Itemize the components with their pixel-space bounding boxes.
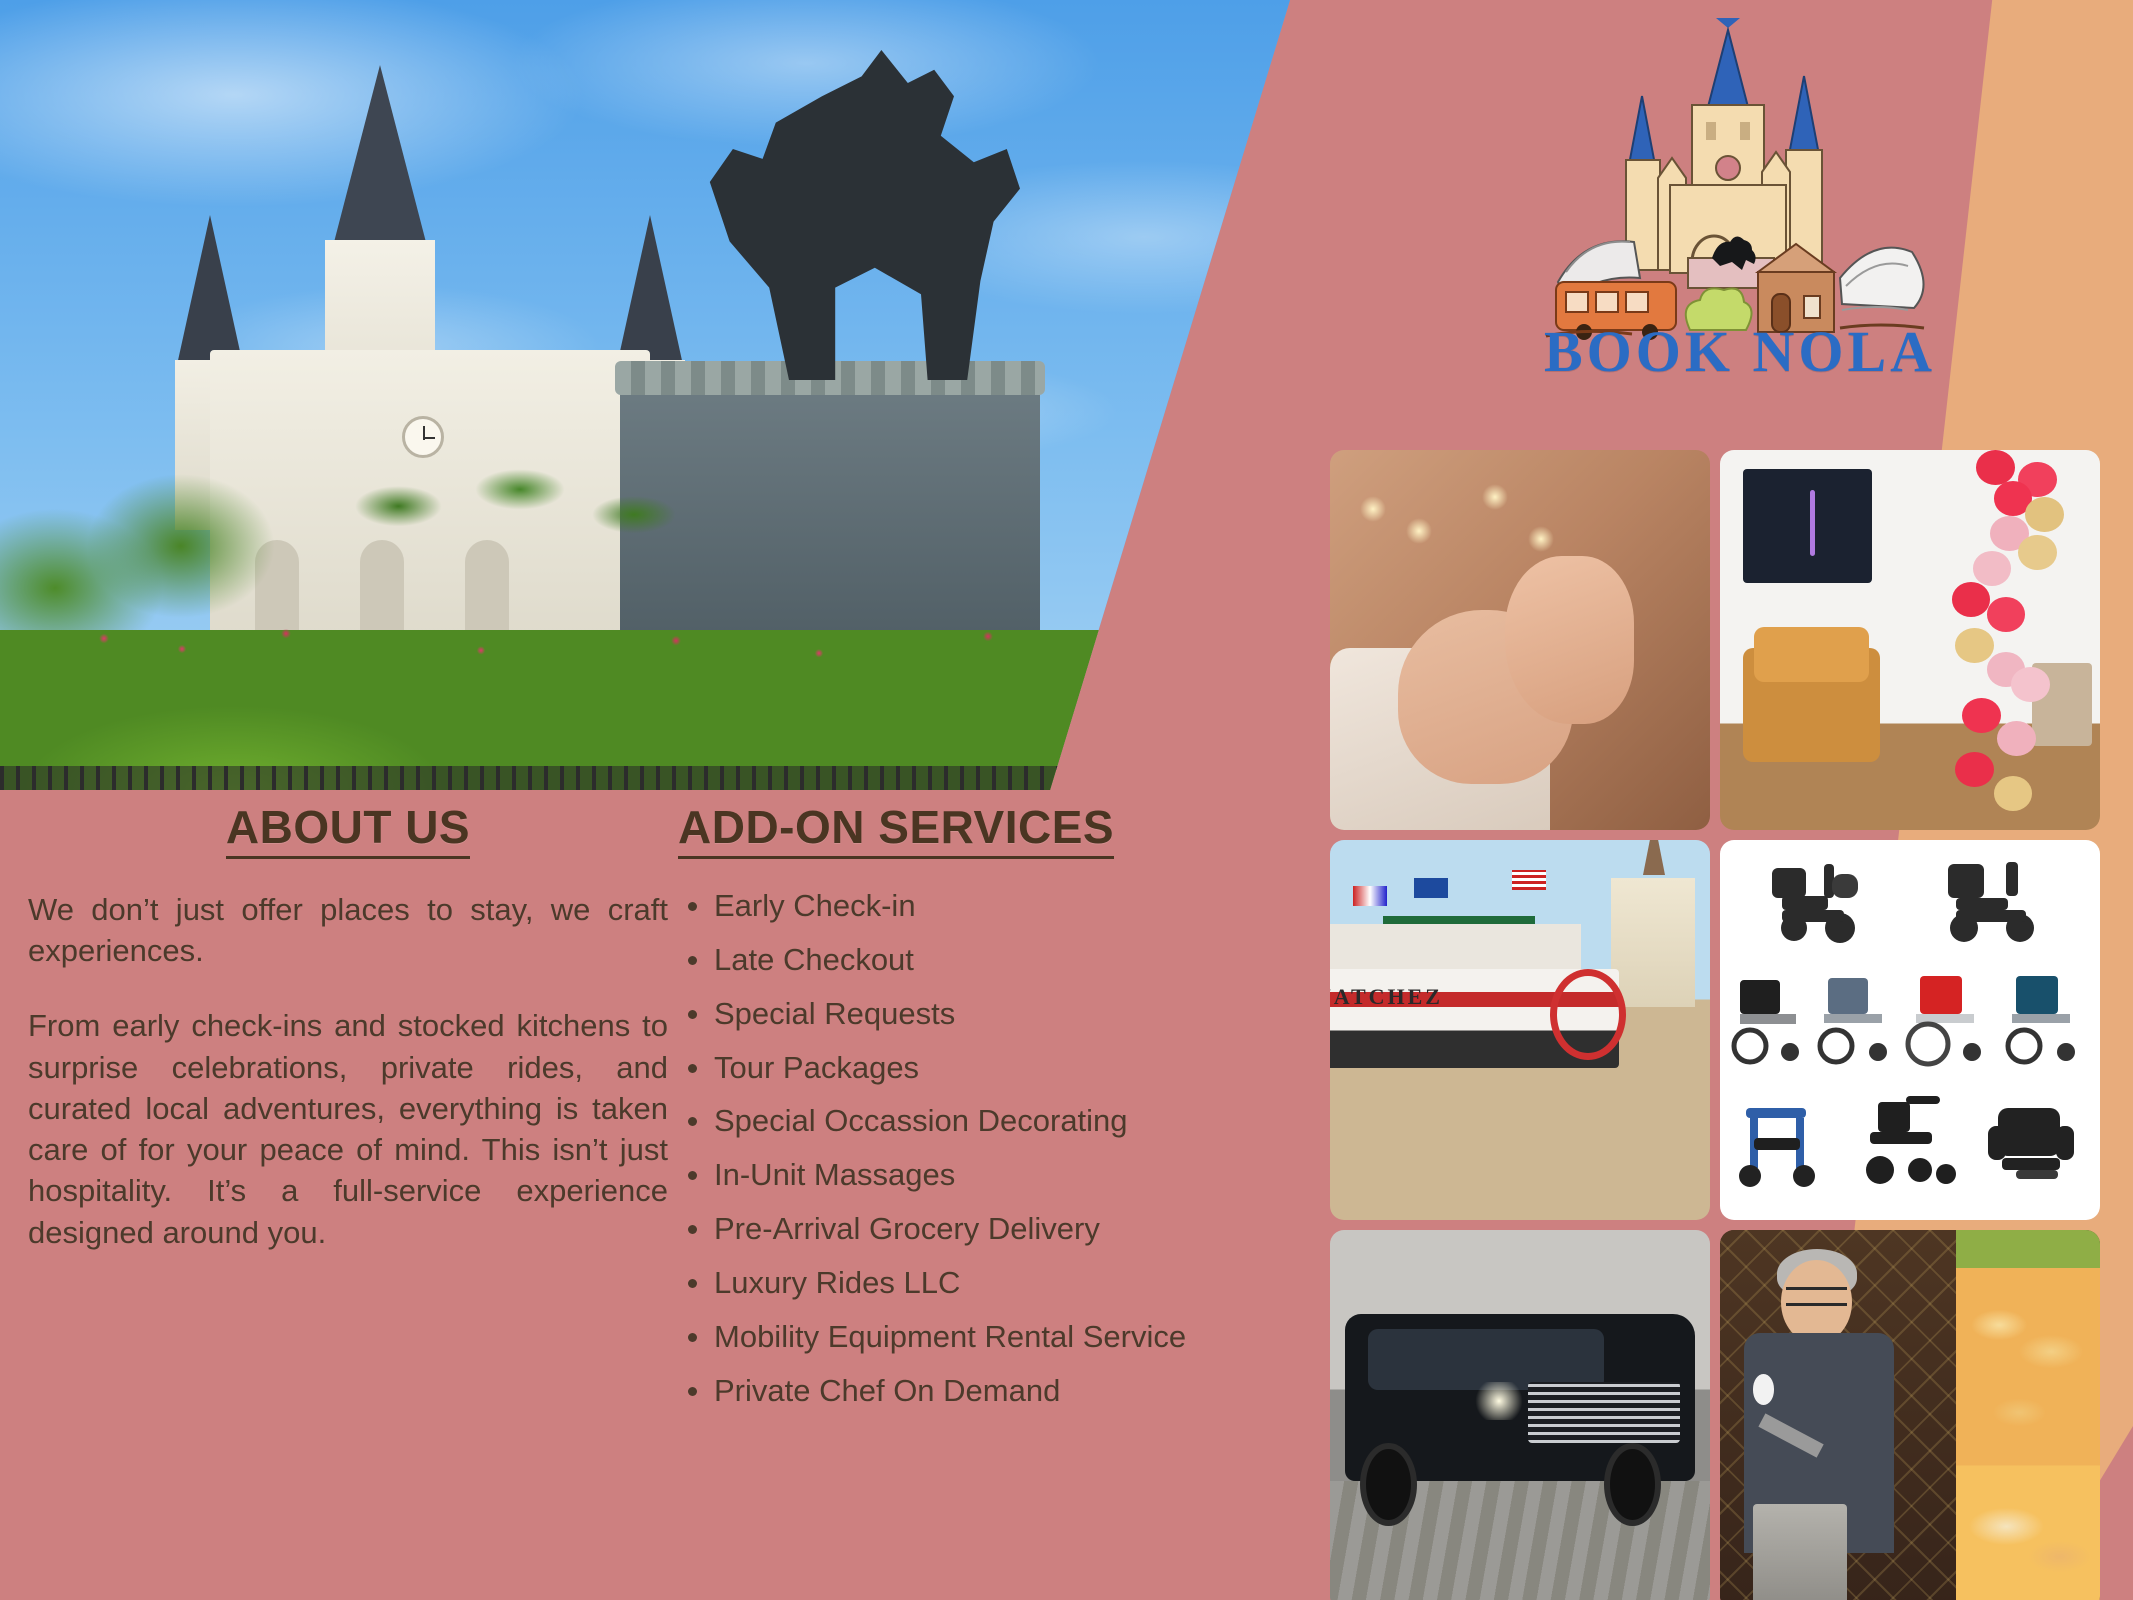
add-on-services-heading: ADD-ON SERVICES (678, 800, 1114, 859)
wall-tv (1743, 469, 1872, 583)
flag-usa (1512, 870, 1546, 890)
service-item: Early Check-in (686, 885, 1280, 927)
balloon-decor-photo (1720, 450, 2100, 830)
mobility-equipment-icons (1720, 840, 2100, 1220)
add-on-services-column: ADD-ON SERVICES Early Check-inLate Check… (660, 800, 1280, 1423)
services-photo-grid: NATCHEZ (1330, 450, 2100, 1600)
brochure-page: BOOK NOLA (0, 0, 2133, 1600)
text-columns: ABOUT US We don’t just offer places to s… (0, 800, 1300, 1600)
cathedral-clock-icon (402, 416, 444, 458)
cathedral-in-background (1611, 878, 1695, 1007)
flag-louisiana (1414, 878, 1448, 898)
service-item: Late Checkout (686, 939, 1280, 981)
service-item: Special Requests (686, 993, 1280, 1035)
flag-red-white-blue (1353, 886, 1387, 906)
flower-bed (0, 600, 1300, 670)
about-us-column: ABOUT US We don’t just offer places to s… (28, 800, 668, 1253)
private-chef-photo (1720, 1230, 2100, 1600)
brand-name: BOOK NOLA (1530, 318, 1950, 385)
service-item: Tour Packages (686, 1047, 1280, 1089)
new-orleans-cathedral-streetcar-logo-icon (1540, 10, 1940, 340)
boat-name-label: NATCHEZ (1330, 984, 1443, 1010)
armchair (1743, 648, 1880, 762)
about-us-heading: ABOUT US (226, 800, 470, 859)
service-item: Private Chef On Demand (686, 1370, 1280, 1412)
about-us-body: We don’t just offer places to stay, we c… (28, 889, 668, 1253)
service-item: Luxury Rides LLC (686, 1262, 1280, 1304)
about-paragraph-2: From early check-ins and stocked kitchen… (28, 1005, 668, 1252)
steamboat-natchez-photo: NATCHEZ (1330, 840, 1710, 1220)
hero-photo-jackson-square (0, 0, 1300, 790)
iron-fence (0, 766, 1300, 790)
service-item: In-Unit Massages (686, 1154, 1280, 1196)
add-on-services-list: Early Check-inLate CheckoutSpecial Reque… (660, 885, 1280, 1411)
service-item: Mobility Equipment Rental Service (686, 1316, 1280, 1358)
spa-massage-photo (1330, 450, 1710, 830)
mobility-equipment-photo (1720, 840, 2100, 1220)
balloon-garland (1910, 450, 2085, 830)
eyeglasses-icon (1786, 1287, 1847, 1306)
brand-logo: BOOK NOLA (1530, 10, 1950, 430)
service-item: Pre-Arrival Grocery Delivery (686, 1208, 1280, 1250)
luxury-suv-photo (1330, 1230, 1710, 1600)
about-paragraph-1: We don’t just offer places to stay, we c… (28, 889, 668, 971)
service-item: Special Occassion Decorating (686, 1100, 1280, 1142)
